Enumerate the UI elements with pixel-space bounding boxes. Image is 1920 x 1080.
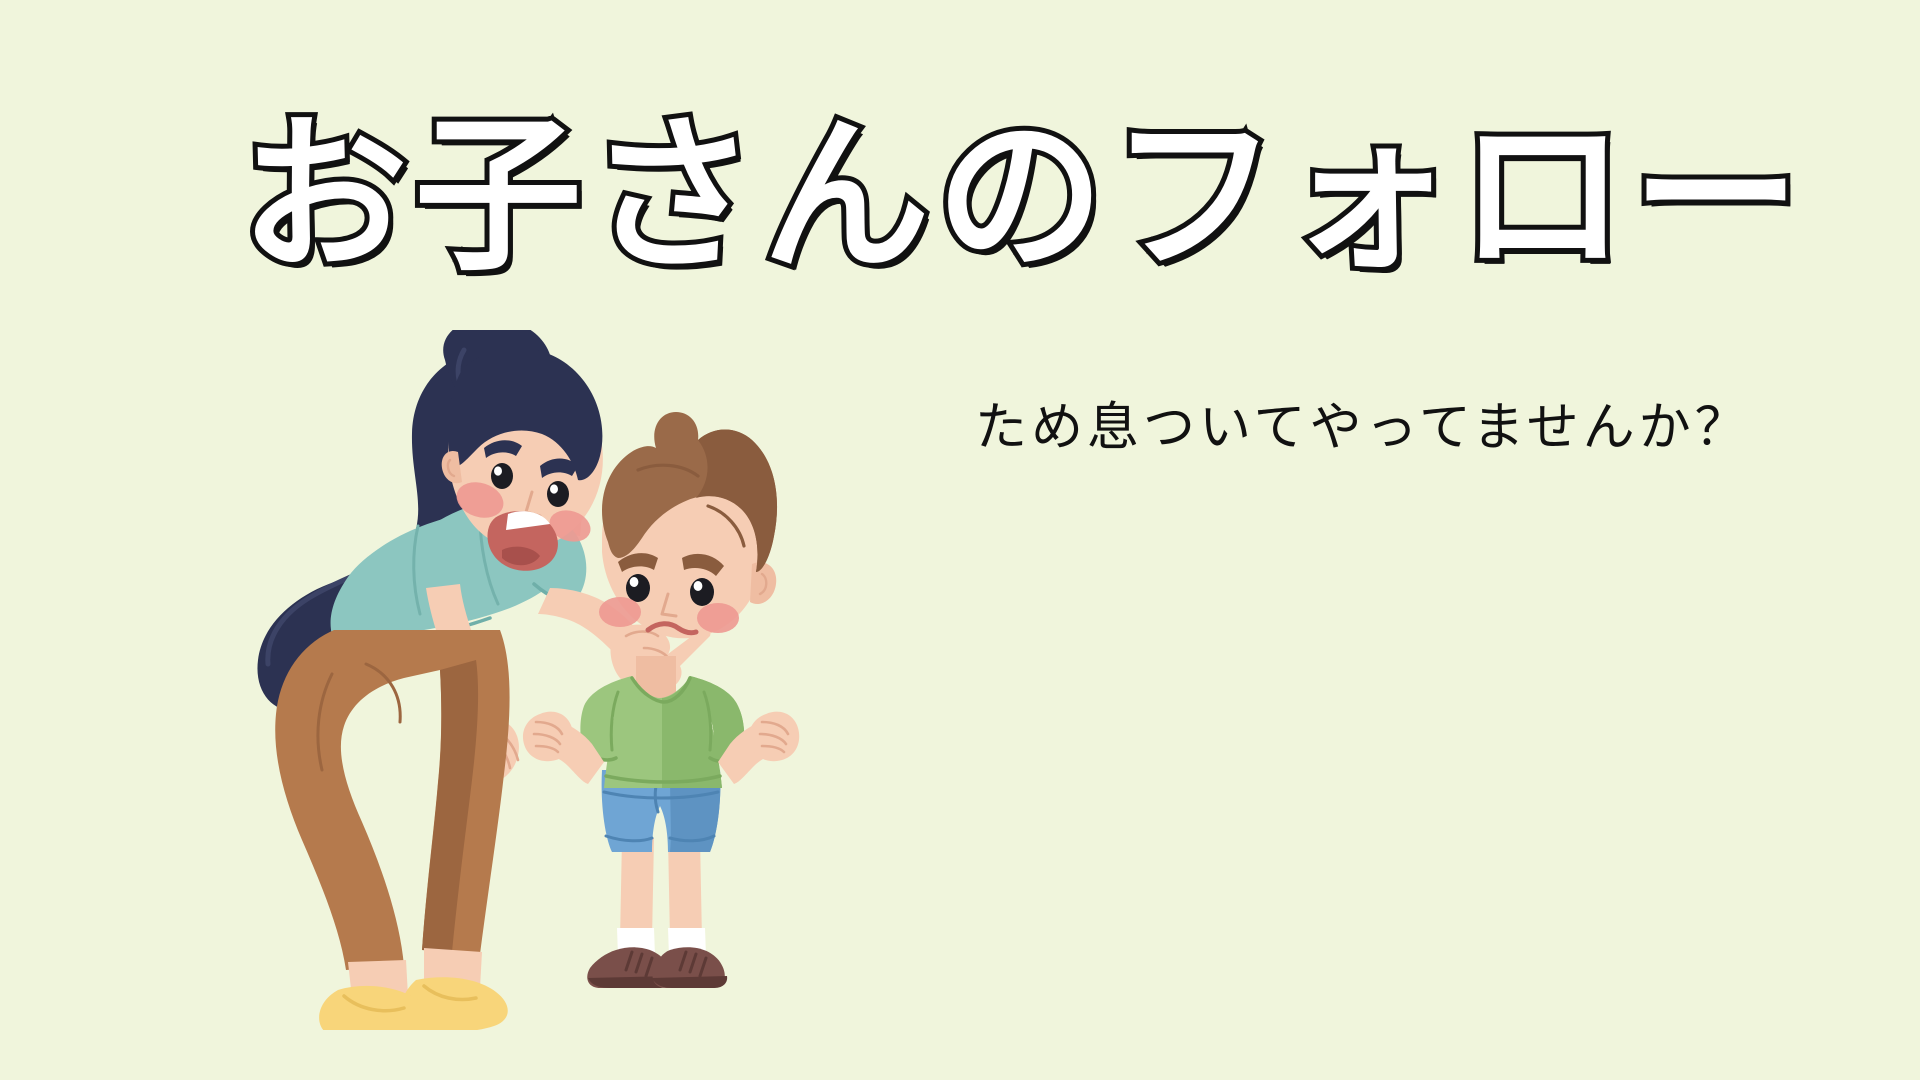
boy-leg-right (668, 838, 702, 940)
subtitle-text: ため息ついてやってませんか？ (975, 396, 1751, 460)
boy-ear (750, 562, 776, 604)
mother-eye-right-shine (550, 484, 558, 493)
boy-shoe-right-sole (652, 976, 727, 988)
mother-eye-left-shine (494, 466, 502, 475)
page-title: お子さんのフォロー (240, 96, 1800, 296)
boy-blush-right (697, 603, 739, 633)
boy-eye-left-shine (630, 577, 639, 587)
boy-eye-left (626, 574, 650, 602)
mother-eye-left (491, 463, 513, 489)
boy-eye-right-shine (694, 581, 703, 591)
illustration-svg (240, 330, 890, 1030)
mother-eye-right (547, 481, 569, 507)
boy-eye-right (690, 578, 714, 606)
boy-blush-left (599, 597, 641, 627)
mother-scolding-child-illustration (240, 330, 890, 1030)
boy-leg-left (620, 838, 654, 940)
slide-canvas: お子さんのフォロー ため息ついてやってませんか？ (0, 0, 1920, 1080)
